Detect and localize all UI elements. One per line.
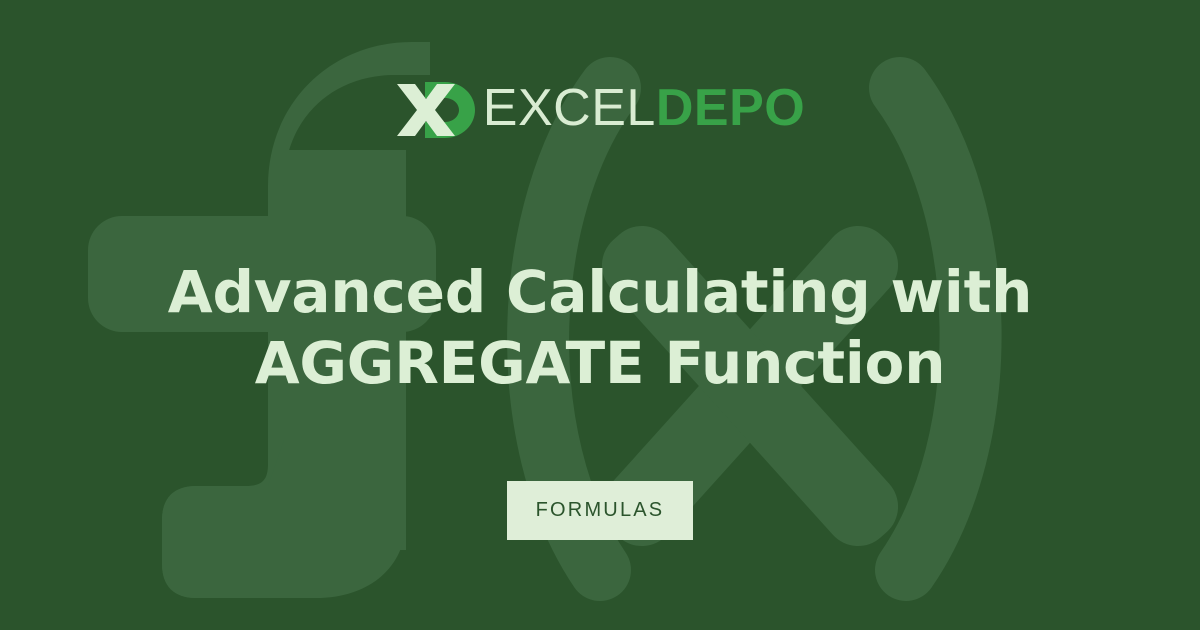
category-badge[interactable]: FORMULAS [507, 481, 693, 540]
logo-word-depo: DEPO [656, 82, 805, 134]
brand-logo: EXCEL DEPO [0, 72, 1200, 144]
page-title: Advanced Calculating with AGGREGATE Func… [90, 257, 1110, 399]
exceldepo-xd-monogram-icon [395, 78, 481, 138]
banner-canvas: EXCEL DEPO Advanced Calculating with AGG… [0, 0, 1200, 630]
logo-word-excel: EXCEL [483, 82, 656, 134]
page-title-line-1: Advanced Calculating with [90, 257, 1110, 328]
category-badge-label: FORMULAS [536, 499, 665, 522]
page-title-line-2: AGGREGATE Function [90, 328, 1110, 399]
